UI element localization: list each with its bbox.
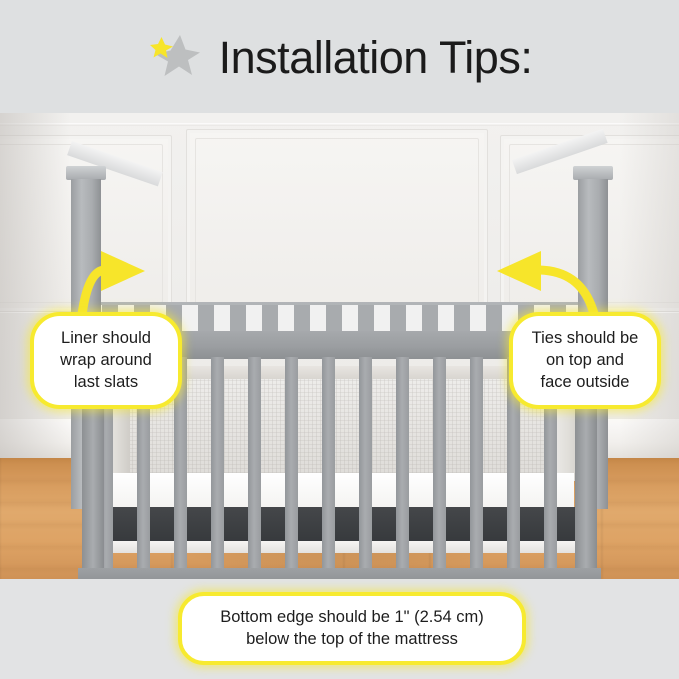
- callout-bottom-line2: below the top of the mattress: [220, 628, 484, 650]
- installation-tips-infographic: Installation Tips:: [0, 0, 679, 679]
- callout-bottom-edge[interactable]: Bottom edge should be 1" (2.54 cm) below…: [178, 592, 526, 665]
- callout-ties-line1: Ties should be: [532, 328, 639, 350]
- callout-ties[interactable]: Ties should be on top and face outside: [509, 312, 661, 409]
- callout-liner-line1: Liner should: [60, 328, 152, 350]
- callout-bottom-line1: Bottom edge should be 1" (2.54 cm): [220, 606, 484, 628]
- callout-ties-line3: face outside: [532, 372, 639, 394]
- callout-liner-line3: last slats: [60, 372, 152, 394]
- callout-liner[interactable]: Liner should wrap around last slats: [30, 312, 182, 409]
- callout-ties-line2: on top and: [532, 350, 639, 372]
- callout-liner-line2: wrap around: [60, 350, 152, 372]
